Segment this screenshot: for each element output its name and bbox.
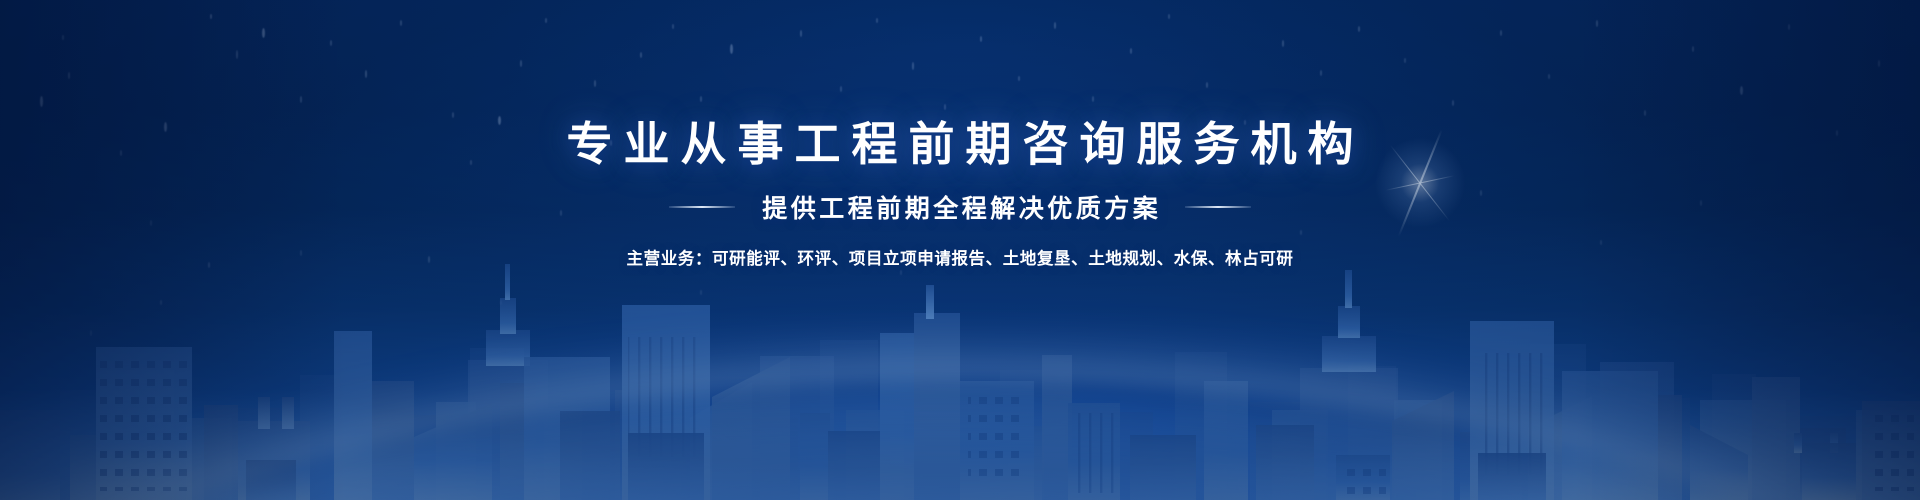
star-particle	[900, 270, 902, 275]
banner-subtitle-row: 提供工程前期全程解决优质方案	[669, 189, 1252, 225]
horizon-highlight	[0, 380, 1920, 500]
hero-banner: 专业从事工程前期咨询服务机构 提供工程前期全程解决优质方案 主营业务：可研能评、…	[0, 0, 1920, 500]
divider-line-left	[669, 206, 735, 208]
banner-services-line: 主营业务：可研能评、环评、项目立项申请报告、土地复垦、土地规划、水保、林占可研	[627, 245, 1294, 269]
banner-subtitle: 提供工程前期全程解决优质方案	[759, 189, 1162, 225]
star-particle	[500, 300, 502, 305]
star-particle	[700, 290, 702, 295]
banner-title: 专业从事工程前期咨询服务机构	[556, 118, 1365, 171]
divider-line-right	[1185, 206, 1251, 208]
banner-content: 专业从事工程前期咨询服务机构 提供工程前期全程解决优质方案 主营业务：可研能评、…	[0, 0, 1920, 269]
star-particle	[90, 330, 92, 336]
star-particle	[160, 300, 162, 305]
